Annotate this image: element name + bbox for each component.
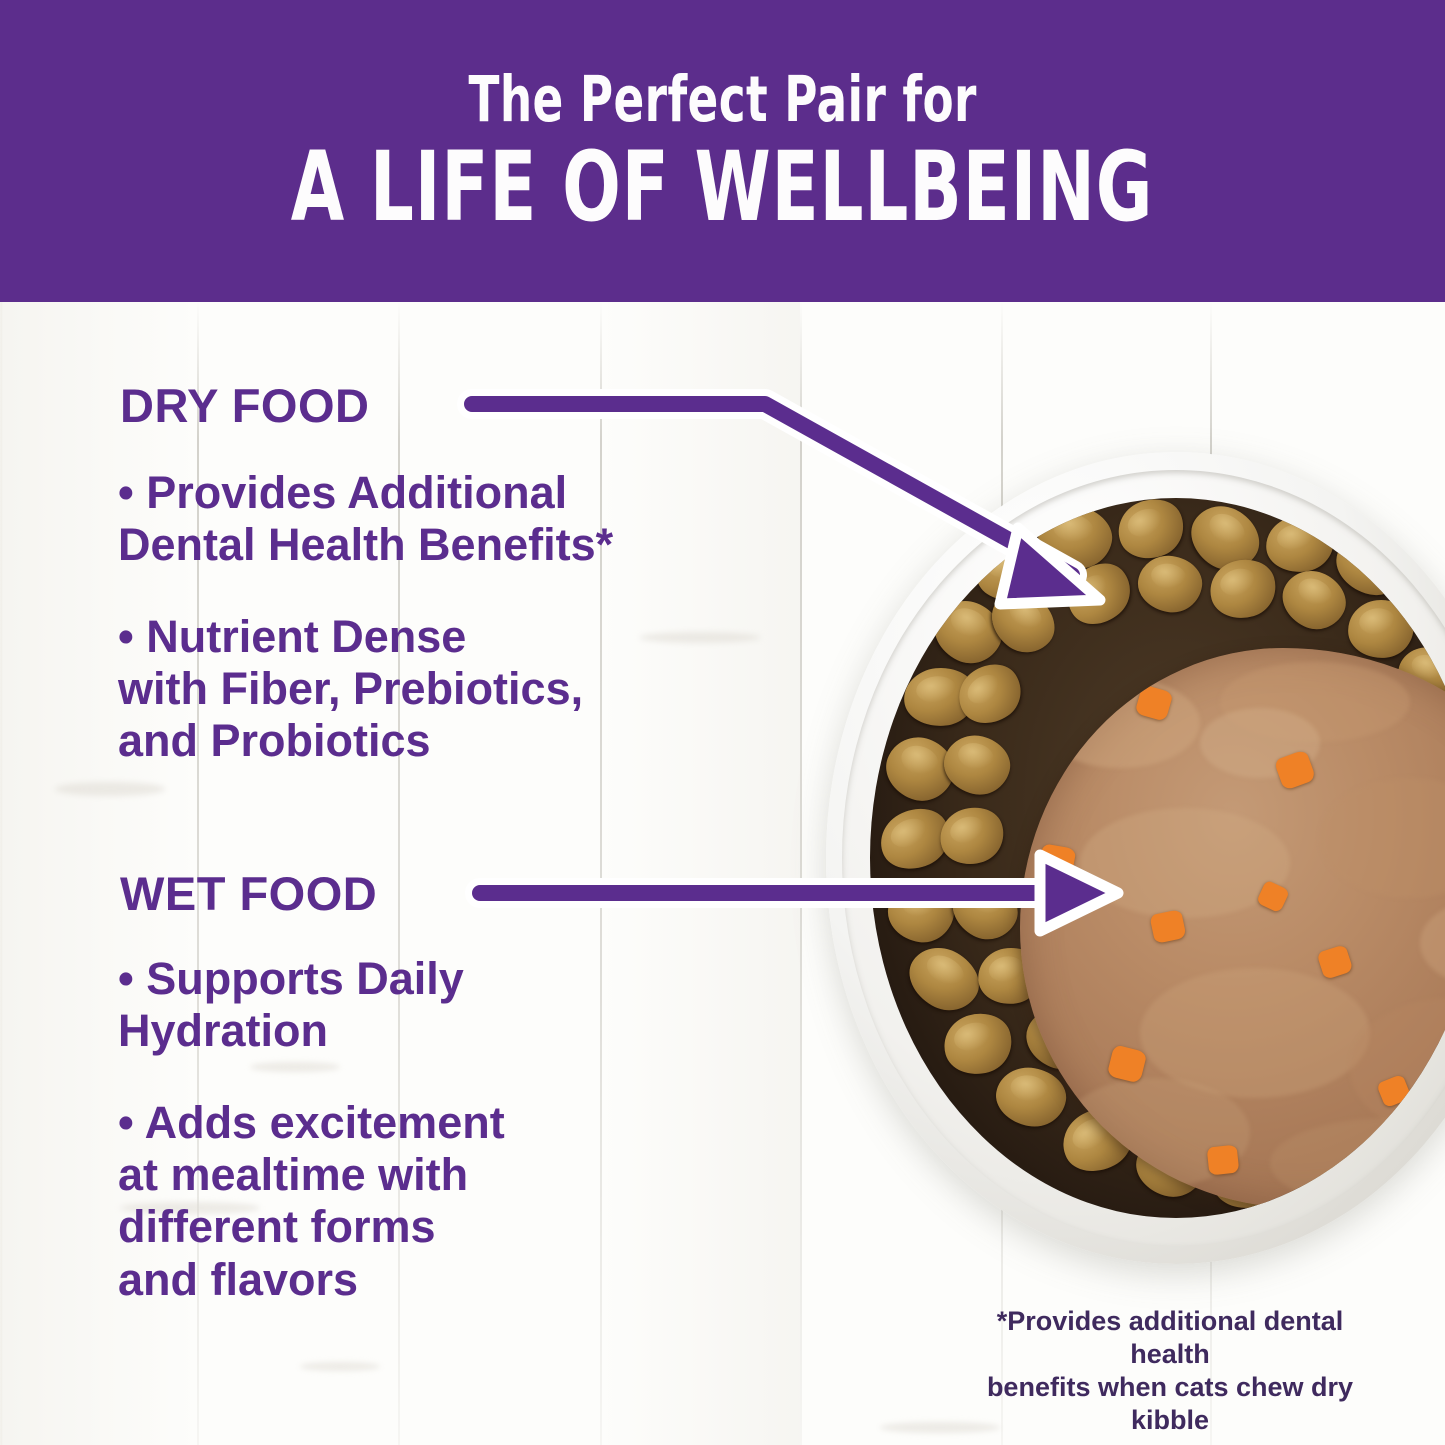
wet-food-bullet-2-line-2: at mealtime with xyxy=(118,1149,778,1201)
wet-food-bullet-2-line-4: and flavors xyxy=(118,1254,778,1306)
dry-food-bullet-1: • Provides Additional Dental Health Bene… xyxy=(118,467,778,571)
pet-food-bowl-image xyxy=(826,452,1445,1264)
carrot-piece xyxy=(1207,1145,1240,1176)
wet-food-pate xyxy=(1020,648,1445,1208)
kibble-piece xyxy=(991,1062,1070,1131)
dry-food-bullet-2: • Nutrient Dense with Fiber, Prebiotics,… xyxy=(118,611,778,768)
dry-food-heading: DRY FOOD xyxy=(120,382,369,429)
kibble-piece xyxy=(884,878,958,947)
promo-infographic: The Perfect Pair for A LIFE OF WELLBEING… xyxy=(0,0,1445,1445)
wet-food-bullet-1: • Supports Daily Hydration xyxy=(118,953,778,1057)
dry-food-bullet-1-line-1: • Provides Additional xyxy=(118,467,778,519)
footnote: *Provides additional dental health benef… xyxy=(960,1305,1380,1437)
wet-food-bullet-1-line-1: • Supports Daily xyxy=(118,953,778,1005)
kibble-piece xyxy=(938,729,1016,801)
dry-food-bullet-1-line-2: Dental Health Benefits* xyxy=(118,519,778,571)
carrot-piece xyxy=(1038,843,1077,879)
kibble-piece xyxy=(1134,552,1205,616)
header-banner: The Perfect Pair for A LIFE OF WELLBEING xyxy=(0,0,1445,302)
kibble-piece xyxy=(933,799,1011,872)
wet-food-bullet-2: • Adds excitement at mealtime with diffe… xyxy=(118,1097,778,1306)
dry-food-bullet-2-line-2: with Fiber, Prebiotics, xyxy=(118,663,778,715)
wet-food-bullet-1-line-2: Hydration xyxy=(118,1005,778,1057)
header-title-line-1: The Perfect Pair for xyxy=(468,68,976,131)
wet-food-bullet-2-line-1: • Adds excitement xyxy=(118,1097,778,1149)
wet-food-bullet-2-line-3: different forms xyxy=(118,1201,778,1253)
kibble-piece xyxy=(942,868,1028,950)
dry-food-bullet-2-line-3: and Probiotics xyxy=(118,715,778,767)
footnote-line-1: *Provides additional dental health xyxy=(960,1305,1380,1371)
wet-food-heading: WET FOOD xyxy=(120,870,377,917)
kibble-piece xyxy=(937,1006,1019,1082)
header-title-line-2: A LIFE OF WELLBEING xyxy=(291,139,1153,235)
kibble-piece xyxy=(898,936,989,1022)
footnote-line-2: benefits when cats chew dry kibble xyxy=(960,1371,1380,1437)
kibble-piece xyxy=(948,653,1032,735)
carrot-piece xyxy=(1149,909,1186,944)
dry-food-bullet-2-line-1: • Nutrient Dense xyxy=(118,611,778,663)
carrot-piece xyxy=(1316,944,1353,980)
